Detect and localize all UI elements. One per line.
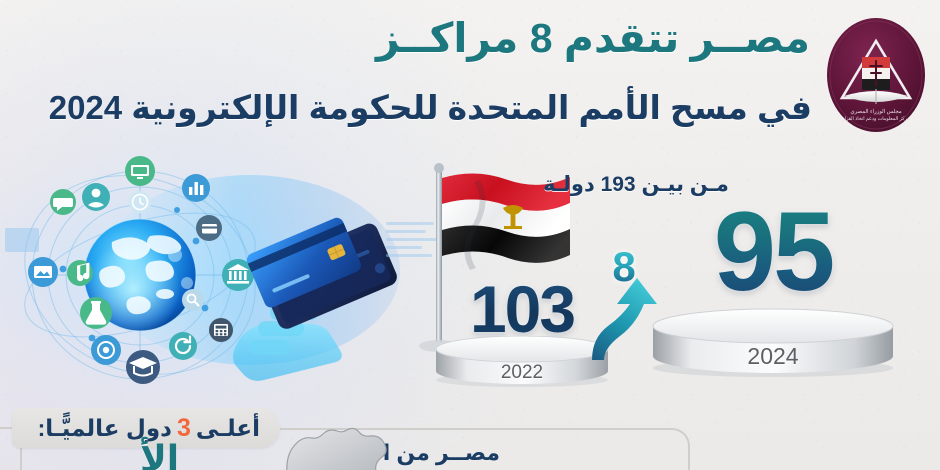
among-countries-label: مـن بيـن 193 دولـة bbox=[528, 172, 744, 197]
podium-year-2022: 2022 bbox=[432, 362, 612, 384]
digital-government-globe-illustration bbox=[0, 150, 440, 400]
infographic-canvas: مصــر تتقدم 8 مراكــز في مسح الأمم المتح… bbox=[0, 0, 940, 470]
idsc-cabinet-logo: مجلس الوزراء المصري مركز المعلومات ودعم … bbox=[824, 16, 928, 134]
rank-2022-group: 103 bbox=[432, 276, 612, 386]
rank-2022-value: 103 bbox=[432, 276, 612, 342]
svg-text:مجلس الوزراء المصري: مجلس الوزراء المصري bbox=[850, 109, 901, 115]
rank-word-teal: الأ bbox=[140, 438, 179, 470]
top3-label-prefix: أعلـى bbox=[196, 415, 260, 442]
header: مصــر تتقدم 8 مراكــز في مسح الأمم المتح… bbox=[0, 0, 940, 152]
svg-text:مركز المعلومات ودعم اتخاذ القر: مركز المعلومات ودعم اتخاذ القرار bbox=[841, 116, 910, 122]
rank-2024-value: 95 bbox=[648, 196, 898, 308]
bottom-band: أعلـى 3 دول عالميًّـا: مصــر من الـدول ا… bbox=[0, 404, 940, 470]
rank-2024-group: 95 bbox=[648, 196, 898, 376]
page-title-line-1: مصــر تتقدم 8 مراكــز bbox=[376, 14, 810, 62]
africa-map-outline bbox=[270, 422, 400, 470]
podium-year-2024: 2024 bbox=[648, 343, 898, 370]
page-title-line-2: في مسح الأمم المتحدة للحكومة الإلكترونية… bbox=[49, 88, 812, 127]
